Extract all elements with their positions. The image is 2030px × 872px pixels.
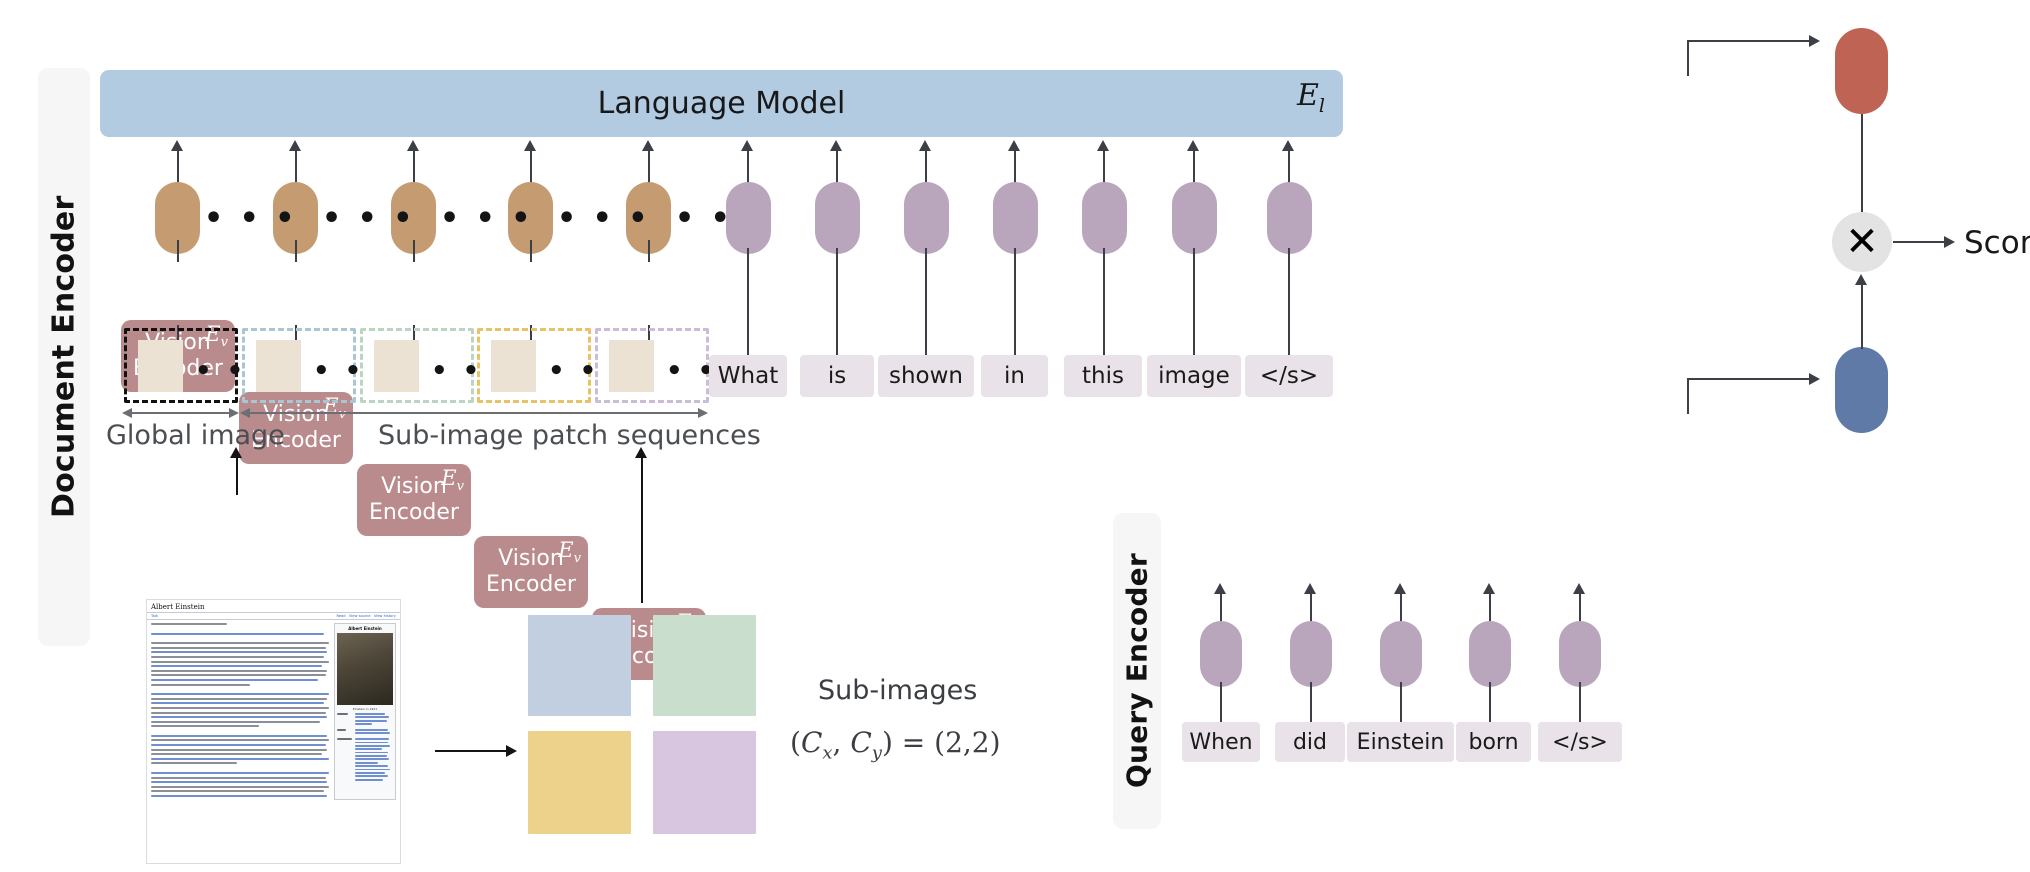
stub-query-token-5 [1579, 682, 1581, 722]
query-word-label-3: Einstein [1357, 730, 1445, 755]
doc-word-label-4: in [1004, 363, 1025, 389]
stub-vision-2 [295, 240, 297, 262]
document-text-column [151, 623, 331, 800]
query-word-label-5: </s> [1552, 730, 1608, 755]
arrow-doc-token-5 [1097, 140, 1109, 151]
document-up-connector [236, 455, 238, 495]
doc-word-label-7: </s> [1260, 363, 1318, 389]
document-title: Albert Einstein [147, 600, 400, 613]
query-word-label-1: When [1189, 730, 1252, 755]
arrow-doc-token-4 [1008, 140, 1020, 151]
patch-tile-subimage-2 [374, 340, 419, 392]
text-token-capsule-2 [815, 182, 860, 254]
arrow-doc-token-1 [741, 140, 753, 151]
arrow-doc-token-6 [1187, 140, 1199, 151]
span-global-label: Global image [106, 420, 285, 451]
query-token-capsule-3 [1380, 621, 1422, 687]
stub-doc-token-2 [836, 248, 838, 355]
doc-word-box-7[interactable]: </s> [1245, 355, 1333, 397]
doc-embedding-riser [1687, 40, 1689, 76]
stub-doc-token-4 [1014, 248, 1016, 355]
subimages-caption: Sub-images [818, 675, 977, 706]
stub-query-token-4 [1489, 682, 1491, 722]
query-word-box-3[interactable]: Einstein [1347, 722, 1454, 762]
text-token-capsule-5 [1082, 182, 1127, 254]
subimages-up-arrow [635, 447, 647, 458]
document-infobox-row [337, 713, 393, 727]
vision-encoder-4[interactable]: Vision Encoder Ev [474, 536, 588, 608]
stub-doc-token-3 [925, 248, 927, 355]
span-global-line [131, 412, 231, 414]
query-embedding-up-arrow [1855, 274, 1867, 285]
query-word-label-4: born [1468, 730, 1518, 755]
document-embedding-tag: El [1297, 78, 1325, 117]
doc-embedding-branch [1687, 40, 1810, 42]
doc-embedding-to-multiply [1861, 114, 1863, 226]
arrow-doc-token-2 [830, 140, 842, 151]
doc-embedding-arrow [1809, 35, 1820, 47]
patch-tile-subimage-4 [609, 340, 654, 392]
document-up-arrow [230, 447, 242, 458]
query-embedding-riser [1687, 378, 1689, 414]
doc-word-box-4[interactable]: in [981, 355, 1048, 397]
patch-tile-subimage-3 [491, 340, 536, 392]
doc-word-label-5: this [1082, 363, 1124, 389]
subimage-tile-bottom-right [653, 731, 756, 834]
stub-vision-3 [413, 240, 415, 262]
document-nav: Talk Read View source View history [147, 613, 400, 620]
query-token-capsule-5 [1559, 621, 1601, 687]
document-to-subimages-arrow [506, 745, 517, 757]
arrow-vision-1 [171, 140, 183, 151]
vision-token-ellipsis-1: • • • [204, 204, 297, 234]
query-embedding-arrow [1809, 373, 1820, 385]
vision-token-ellipsis-3: • • • [440, 204, 533, 234]
vision-token-ellipsis-2: • • • [322, 204, 415, 234]
score-connector [1893, 241, 1945, 243]
document-nav-items: Read View source View history [336, 614, 396, 618]
query-word-box-5[interactable]: </s> [1538, 722, 1622, 762]
arrow-vision-5 [642, 140, 654, 151]
stub-doc-token-5 [1103, 248, 1105, 355]
query-embedding-to-multiply [1861, 283, 1863, 349]
subimages-up-connector [641, 455, 643, 603]
text-token-capsule-1 [726, 182, 771, 254]
arrow-doc-token-3 [919, 140, 931, 151]
document-to-subimages-line [435, 750, 507, 752]
stub-doc-token-6 [1193, 248, 1195, 355]
text-token-capsule-3 [904, 182, 949, 254]
text-token-capsule-7 [1267, 182, 1312, 254]
arrow-query-token-4 [1483, 583, 1495, 594]
text-token-capsule-4 [993, 182, 1038, 254]
multiply-symbol: ✕ [1845, 222, 1879, 262]
patch-tile-subimage-1 [256, 340, 301, 392]
arrow-doc-token-7 [1282, 140, 1294, 151]
doc-word-label-6: image [1158, 363, 1230, 389]
document-infobox: Albert Einstein Einstein in 1921 [334, 623, 396, 800]
document-infobox-row [337, 738, 393, 782]
document-infobox-title: Albert Einstein [337, 626, 393, 631]
query-embedding-branch [1687, 378, 1810, 380]
subimage-tile-top-left [528, 615, 631, 716]
document-language-model[interactable]: Language Model El [100, 70, 1343, 137]
arrow-query-token-5 [1573, 583, 1585, 594]
query-token-capsule-2 [1290, 621, 1332, 687]
doc-word-box-3[interactable]: shown [878, 355, 974, 397]
arrow-query-token-1 [1214, 583, 1226, 594]
arrow-query-token-2 [1304, 583, 1316, 594]
query-token-capsule-4 [1469, 621, 1511, 687]
span-sub-right-cap [698, 408, 708, 418]
doc-word-label-2: is [828, 363, 846, 389]
arrow-vision-4 [524, 140, 536, 151]
arrow-vision-3 [407, 140, 419, 151]
document-portrait [337, 633, 393, 705]
subimage-tile-top-right [653, 615, 756, 716]
stub-query-token-1 [1220, 682, 1222, 722]
query-word-label-2: did [1293, 730, 1327, 755]
text-token-capsule-6 [1172, 182, 1217, 254]
subimages-formula: (Cx, Cy) = (2,2) [790, 726, 1001, 764]
vision-encoder-4-line2: Encoder [486, 572, 576, 598]
query-token-capsule-1 [1200, 621, 1242, 687]
vision-encoder-3[interactable]: Vision Encoder Ev [357, 464, 471, 536]
vision-encoder-3-line2: Encoder [369, 500, 459, 526]
document-portrait-caption: Einstein in 1921 [337, 707, 393, 711]
document-infobox-row [337, 729, 393, 736]
score-label: Score [1964, 225, 2030, 261]
doc-word-box-1[interactable]: What [709, 355, 787, 397]
patch-tile-global [138, 340, 183, 392]
vision-encoder-3-tag: Ev [441, 466, 464, 495]
stub-doc-token-1 [747, 248, 749, 355]
document-encoder-label: Document Encoder [38, 68, 90, 646]
stub-doc-token-7 [1288, 248, 1290, 355]
stub-vision-1 [177, 240, 179, 262]
subimage-tile-bottom-left [528, 731, 631, 834]
stub-query-token-2 [1310, 682, 1312, 722]
arrow-vision-2 [289, 140, 301, 151]
stub-vision-5 [648, 240, 650, 262]
stub-vision-4 [530, 240, 532, 262]
doc-word-box-6[interactable]: image [1147, 355, 1241, 397]
document-body: Albert Einstein Einstein in 1921 [147, 620, 400, 803]
doc-word-label-1: What [718, 363, 778, 389]
query-word-box-1[interactable]: When [1182, 722, 1260, 762]
query-encoder-label: Query Encoder [1113, 513, 1161, 829]
span-global-right-cap [229, 408, 239, 418]
query-word-box-2[interactable]: did [1275, 722, 1345, 762]
arrow-query-token-3 [1394, 583, 1406, 594]
document-embedding-capsule [1835, 28, 1888, 114]
span-sub-label: Sub-image patch sequences [378, 420, 761, 451]
stub-query-token-3 [1400, 682, 1402, 722]
doc-word-label-3: shown [889, 363, 963, 389]
vision-encoder-4-line1: Vision [498, 546, 564, 572]
document-tab-talk[interactable]: Talk [151, 614, 158, 618]
score-arrow [1944, 236, 1955, 248]
span-sub-line [249, 412, 700, 414]
diagram-canvas: Document Encoder Language Model El • • •… [0, 0, 2030, 872]
document-language-model-title: Language Model [598, 86, 846, 121]
vision-encoder-4-tag: Ev [558, 538, 581, 567]
doc-word-box-2[interactable]: is [800, 355, 874, 397]
document-thumbnail[interactable]: Albert Einstein Talk Read View source Vi… [146, 599, 401, 864]
query-embedding-capsule [1835, 347, 1888, 433]
doc-word-box-5[interactable]: this [1064, 355, 1142, 397]
multiply-node[interactable]: ✕ [1832, 212, 1892, 272]
vision-encoder-3-line1: Vision [381, 474, 447, 500]
query-word-box-4[interactable]: born [1456, 722, 1531, 762]
vision-token-ellipsis-4: • • • [557, 204, 650, 234]
